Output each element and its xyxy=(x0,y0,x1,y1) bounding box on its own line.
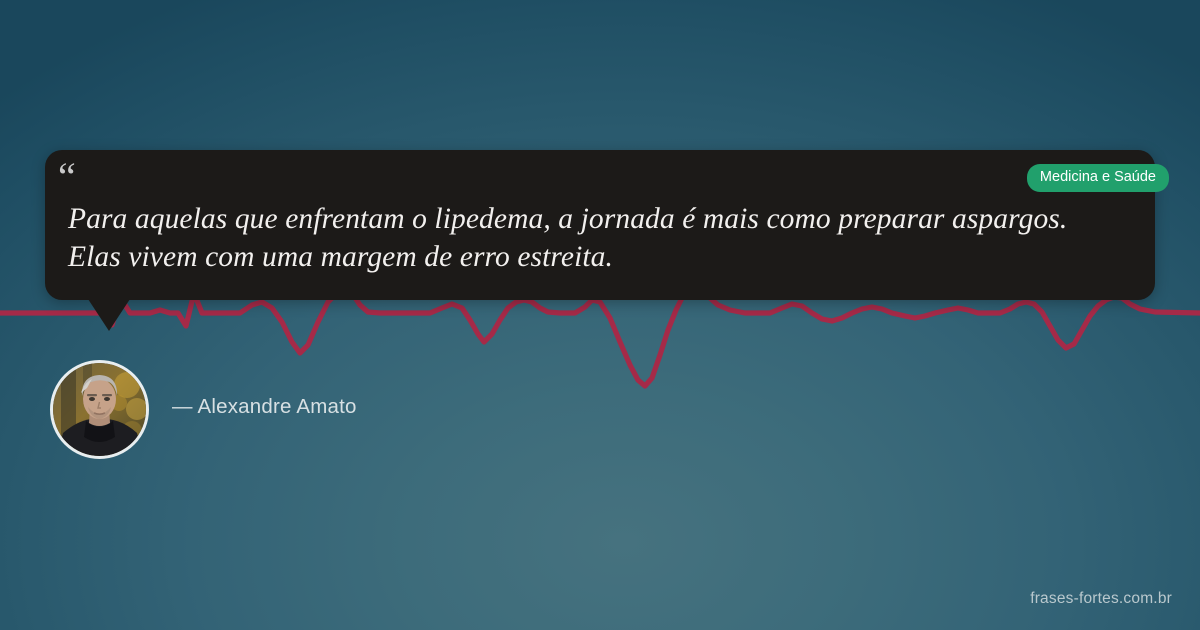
avatar-portrait-image xyxy=(53,363,146,456)
quote-text: Para aquelas que enfrentam o lipedema, a… xyxy=(68,200,1078,276)
quote-mark-icon: “ xyxy=(58,157,76,197)
author-name: — Alexandre Amato xyxy=(172,395,357,419)
quote-card-tail xyxy=(88,299,130,331)
quote-graphic: “ Para aquelas que enfrentam o lipedema,… xyxy=(0,0,1200,630)
site-watermark: frases-fortes.com.br xyxy=(1030,590,1172,608)
avatar xyxy=(50,360,149,459)
category-badge[interactable]: Medicina e Saúde xyxy=(1027,164,1169,192)
